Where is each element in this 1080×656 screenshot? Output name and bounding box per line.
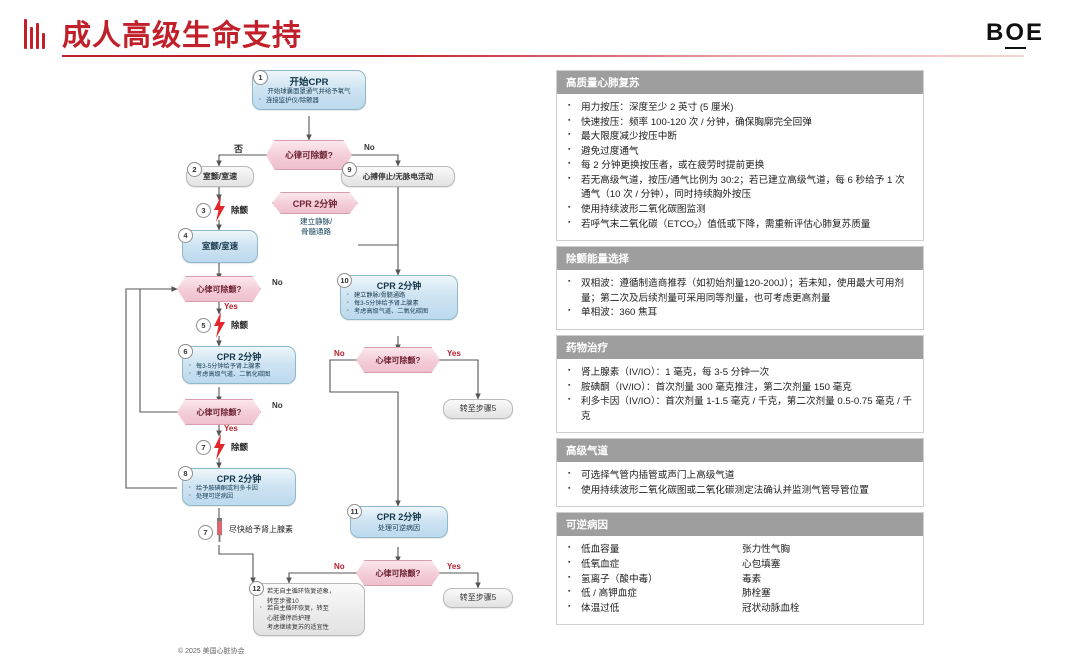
info-list-item: 可选择气管内插管或声门上高级气道 [567, 469, 913, 484]
info-list-item: 肾上腺素（IV/IO）：1 毫克，每 3-5 分钟一次 [567, 366, 913, 381]
flow-node-cpr-6[interactable]: CPR 2分钟 每3-5分钟给予肾上腺素 考虑高级气道、二氧化碳图 [182, 346, 296, 384]
flow-node-goto-step5-a[interactable]: 转至步骤5 [443, 399, 513, 419]
info-list-item: 张力性气胸 [740, 543, 913, 558]
info-panel-title: 除颤能量选择 [557, 247, 923, 270]
edge-label-no-en-2: No [272, 278, 283, 287]
info-list-item: 若无高级气道，按压/通气比例为 30:2；若已建立高级气道，每 6 秒给予 1 … [567, 174, 913, 203]
info-list-item: 用力按压：深度至少 2 英寸 (5 厘米) [567, 101, 913, 116]
shock-label-3: 除颤 [231, 204, 248, 216]
copyright-text: © 2025 美国心脏协会 [178, 646, 245, 656]
info-list-item: 利多卡因（IV/IO）：首次剂量 1-1.5 毫克 / 千克，第二次剂量 0.5… [567, 395, 913, 424]
step-badge-2: 2 [187, 162, 202, 177]
info-panel: 药物治疗肾上腺素（IV/IO）：1 毫克，每 3-5 分钟一次胺碘酮（IV/IO… [556, 335, 924, 433]
acls-flowchart: 开始CPR 开始球囊面罩通气并给予氧气 连接监护仪/除颤器 1 心律可除颤? 否… [0, 62, 540, 608]
edge-label-no-en-4: No [334, 349, 345, 358]
step-badge-1: 1 [253, 70, 268, 85]
edge-label-yes-5: Yes [447, 562, 461, 571]
edge-label-yes-2: Yes [224, 302, 238, 311]
info-panel-title: 高质量心肺复苏 [557, 71, 923, 94]
info-list-item: 冠状动脉血栓 [740, 602, 913, 617]
info-list-item: 心包填塞 [740, 558, 913, 573]
info-list-item: 使用持续波形二氧化碳图监测 [567, 203, 913, 218]
info-panel-title: 药物治疗 [557, 336, 923, 359]
defibrillation-bolt-icon-3 [213, 196, 226, 222]
info-panel-title: 高级气道 [557, 439, 923, 462]
step-badge-3: 3 [196, 203, 211, 218]
epi-asap-label: 尽快给予肾上腺素 [229, 524, 293, 535]
info-panel: 高质量心肺复苏用力按压：深度至少 2 英寸 (5 厘米)快速按压：频率 100-… [556, 70, 924, 241]
header-divider [62, 55, 1024, 57]
step-badge-7: 7 [196, 440, 211, 455]
info-list-item: 双相波：遵循制造商推荐（如初始剂量120-200J）；若未知，使用最大可用剂量；… [567, 277, 913, 306]
logo-letter-e: E [1026, 19, 1044, 46]
edge-label-no-en-5: No [334, 562, 345, 571]
shock-label-5: 除颤 [231, 319, 248, 331]
info-list-item: 胺碘酮（IV/IO）：首次剂量 300 毫克推注，第二次剂量 150 毫克 [567, 381, 913, 396]
edge-label-yes-3: Yes [224, 424, 238, 433]
flow-node-cpr-8[interactable]: CPR 2分钟 给予胺碘酮或利多卡因 处理可逆病因 [182, 468, 296, 506]
step-badge-10: 10 [337, 273, 352, 288]
flow-decision-shockable-2[interactable]: 心律可除颤? [177, 276, 261, 302]
info-list-item: 最大限度减少按压中断 [567, 130, 913, 145]
info-list-item: 每 2 分钟更换按压者，或在疲劳时提前更换 [567, 159, 913, 174]
info-list-item: 若呼气末二氧化碳（ETCO₂）值低或下降，需重新评估心肺复苏质量 [567, 218, 913, 233]
info-panel-body: 双相波：遵循制造商推荐（如初始剂量120-200J）；若未知，使用最大可用剂量；… [557, 270, 923, 329]
step-badge-6: 6 [178, 344, 193, 359]
step-badge-12: 12 [249, 581, 264, 596]
step-badge-8: 8 [178, 466, 193, 481]
flow-hex-cpr-2min[interactable]: CPR 2分钟 [272, 192, 358, 214]
info-panel-title: 可逆病因 [557, 513, 923, 536]
edge-label-no-en-1: No [364, 143, 375, 152]
step-badge-5: 5 [196, 318, 211, 333]
flow-node-asystole-pea-9[interactable]: 心搏停止/无脉电活动 [341, 166, 455, 187]
flow-decision-shockable-4[interactable]: 心律可除颤? [356, 347, 440, 373]
page-title: 成人高级生命支持 [62, 12, 302, 54]
logo-letter-b: B [986, 19, 1005, 46]
page-header: 成人高级生命支持 BOE [0, 0, 1080, 62]
logo-letter-o: O [1005, 19, 1026, 49]
info-panel-body: 低血容量低氧血症氢离子（酸中毒）低 / 高钾血症体温过低张力性气胸心包填塞毒素肺… [557, 536, 923, 624]
defibrillation-bolt-icon-5 [213, 312, 226, 338]
info-list-item: 避免过度通气 [567, 145, 913, 160]
step-badge-4: 4 [178, 228, 193, 243]
flow-node-cpr-10[interactable]: CPR 2分钟 建立静脉/骨髓通路 每3-5分钟给予肾上腺素 考虑高级气道、二氧… [340, 275, 458, 320]
reversible-causes-left-column: 低血容量低氧血症氢离子（酸中毒）低 / 高钾血症体温过低 [567, 543, 740, 616]
syringe-icon [215, 517, 224, 543]
info-panel-body: 用力按压：深度至少 2 英寸 (5 厘米)快速按压：频率 100-120 次 /… [557, 94, 923, 240]
info-list-item: 低血容量 [567, 543, 740, 558]
info-panel-body: 肾上腺素（IV/IO）：1 毫克，每 3-5 分钟一次胺碘酮（IV/IO）：首次… [557, 359, 923, 432]
info-list-item: 使用持续波形二氧化碳图或二氧化碳测定法确认并监测气管导管位置 [567, 484, 913, 499]
flow-node-vf-vt-4[interactable]: 室颤/室速 [182, 230, 258, 263]
iv-io-access-note: 建立静脉/ 骨髓通路 [286, 217, 346, 237]
flow-node-start-cpr[interactable]: 开始CPR 开始球囊面罩通气并给予氧气 连接监护仪/除颤器 [252, 70, 366, 110]
edge-label-yes-4: Yes [447, 349, 461, 358]
shock-label-7: 除颤 [231, 441, 248, 453]
info-panel: 除颤能量选择双相波：遵循制造商推荐（如初始剂量120-200J）；若未知，使用最… [556, 246, 924, 330]
step-badge-11: 11 [347, 504, 362, 519]
boe-logo: BOE [986, 19, 1044, 47]
flow-node-goto-step5-b[interactable]: 转至步骤5 [443, 588, 513, 608]
step-badge-7b: 7 [198, 525, 213, 540]
info-list-item: 体温过低 [567, 602, 740, 617]
info-list-item: 毒素 [740, 573, 913, 588]
info-list-item: 单相波：360 焦耳 [567, 306, 913, 321]
flow-decision-shockable-5[interactable]: 心律可除颤? [356, 560, 440, 586]
reversible-causes-right-column: 张力性气胸心包填塞毒素肺栓塞冠状动脉血栓 [740, 543, 913, 616]
info-list-item: 低氧血症 [567, 558, 740, 573]
flow-decision-shockable-3[interactable]: 心律可除颤? [177, 399, 261, 425]
flow-decision-shockable-1[interactable]: 心律可除颤? [266, 140, 352, 170]
defibrillation-bolt-icon-7 [213, 434, 226, 460]
reference-panels: 高质量心肺复苏用力按压：深度至少 2 英寸 (5 厘米)快速按压：频率 100-… [556, 70, 924, 630]
info-list-item: 氢离子（酸中毒） [567, 573, 740, 588]
info-list-item: 低 / 高钾血症 [567, 587, 740, 602]
flow-node-rosc-12[interactable]: 若无自主循环恢复迹象， 转至步骤10 若自主循环恢复，转至 心脏骤停后护理 考虑… [253, 583, 365, 636]
info-list-item: 快速按压：频率 100-120 次 / 分钟，确保胸廓完全回弹 [567, 116, 913, 131]
info-panel-body: 可选择气管内插管或声门上高级气道使用持续波形二氧化碳图或二氧化碳测定法确认并监测… [557, 462, 923, 506]
edge-label-no-cn-1: 否 [234, 142, 243, 155]
step-badge-9: 9 [342, 162, 357, 177]
info-panel: 可逆病因低血容量低氧血症氢离子（酸中毒）低 / 高钾血症体温过低张力性气胸心包填… [556, 512, 924, 625]
flow-node-cpr-11[interactable]: CPR 2分钟 处理可逆病因 [350, 506, 448, 538]
edge-label-no-en-3: No [272, 401, 283, 410]
info-panel: 高级气道可选择气管内插管或声门上高级气道使用持续波形二氧化碳图或二氧化碳测定法确… [556, 438, 924, 507]
brand-bars-icon [24, 17, 45, 49]
info-list-item: 肺栓塞 [740, 587, 913, 602]
